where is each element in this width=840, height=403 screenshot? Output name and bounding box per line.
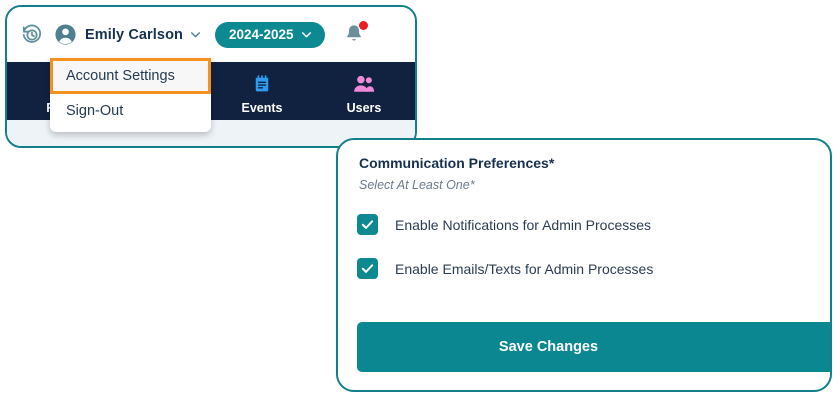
checkbox-label: Enable Emails/Texts for Admin Processes	[395, 261, 653, 277]
notification-badge	[359, 21, 368, 30]
user-avatar-icon[interactable]	[52, 22, 78, 48]
checkbox-checked-icon[interactable]	[357, 258, 378, 279]
menu-item-account-settings[interactable]: Account Settings	[50, 58, 211, 94]
nav-item-users[interactable]: Users	[313, 62, 415, 120]
nav-item-label: Users	[347, 101, 382, 115]
prefs-subtitle: Select At Least One*	[359, 178, 475, 192]
utility-bar: Emily Carlson 2024-2025	[7, 7, 415, 62]
history-clock-icon[interactable]	[19, 22, 45, 48]
checkbox-row-notifications[interactable]: Enable Notifications for Admin Processes	[357, 214, 651, 235]
prefs-title: Communication Preferences*	[359, 155, 554, 171]
year-selector-value: 2024-2025	[229, 27, 294, 42]
communication-preferences-card: Communication Preferences* Select At Lea…	[336, 138, 832, 392]
account-dropdown-menu: Account Settings Sign-Out	[50, 58, 211, 132]
checkbox-label: Enable Notifications for Admin Processes	[395, 217, 651, 233]
people-icon	[352, 72, 376, 96]
screenshot-stage: Emily Carlson 2024-2025	[0, 0, 840, 403]
notifications-button[interactable]	[343, 22, 367, 48]
checkbox-row-emails-texts[interactable]: Enable Emails/Texts for Admin Processes	[357, 258, 653, 279]
nav-item-label: Events	[242, 101, 283, 115]
checkbox-checked-icon[interactable]	[357, 214, 378, 235]
chevron-down-icon	[300, 28, 313, 41]
nav-item-events[interactable]: Events	[211, 62, 313, 120]
save-changes-button[interactable]: Save Changes	[357, 322, 832, 372]
notebook-icon	[251, 72, 273, 96]
chevron-down-icon[interactable]	[189, 28, 202, 41]
year-selector-button[interactable]: 2024-2025	[215, 22, 325, 48]
menu-item-sign-out[interactable]: Sign-Out	[50, 94, 211, 130]
user-name-label[interactable]: Emily Carlson	[85, 27, 183, 43]
